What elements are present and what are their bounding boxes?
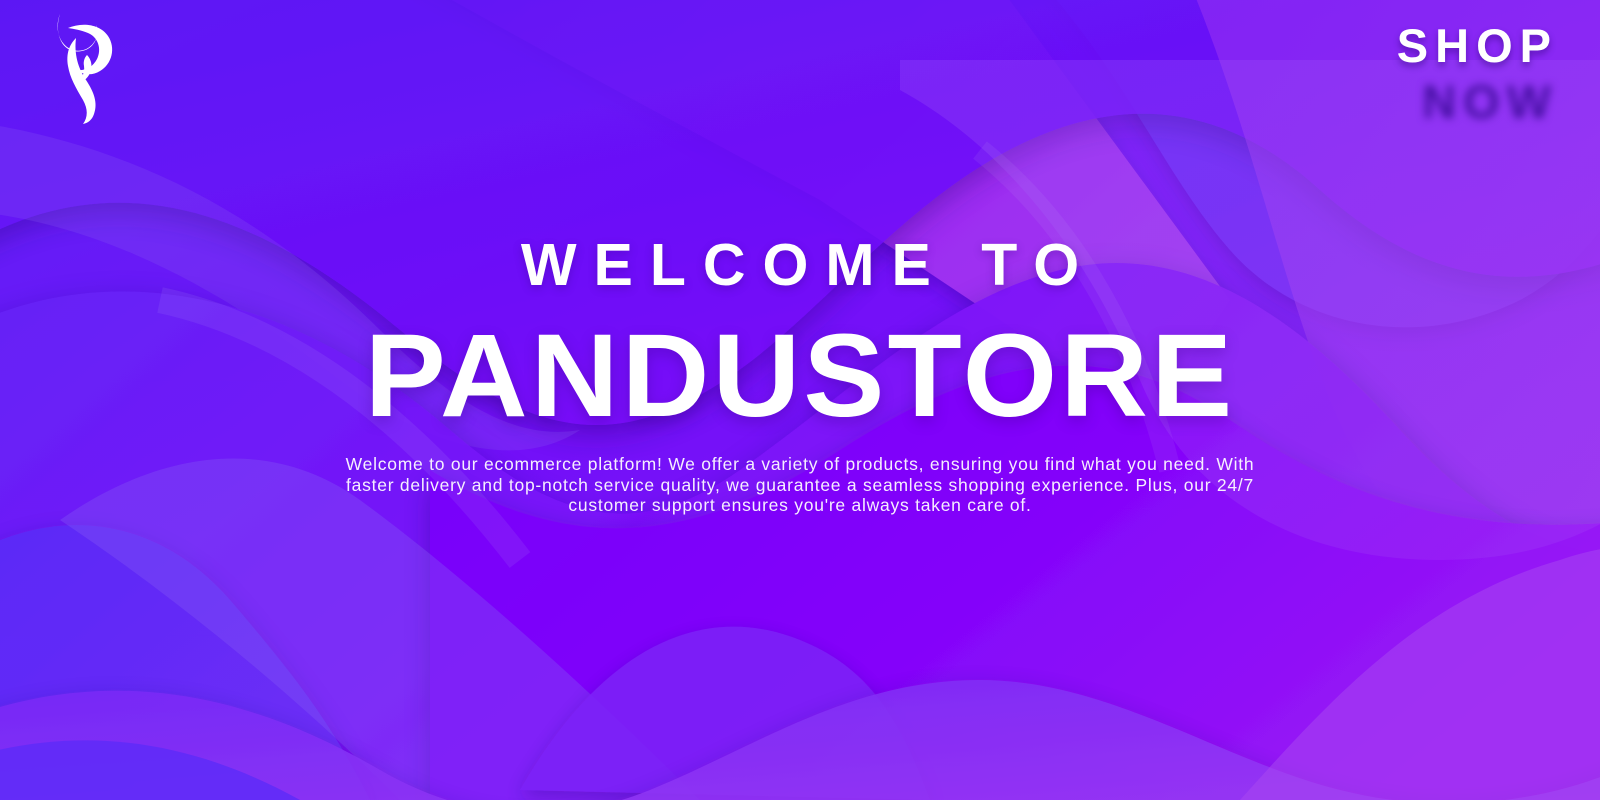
pandustore-p-logo-icon[interactable] <box>30 8 126 124</box>
promo-banner: SHOP NOW WELCOME TO PANDUSTORE Welcome t… <box>0 0 1600 800</box>
hero-title: PANDUSTORE <box>0 317 1600 435</box>
hero-text-block: WELCOME TO PANDUSTORE Welcome to our eco… <box>0 236 1600 516</box>
cta-line-now[interactable]: NOW <box>1397 78 1560 125</box>
cta-line-shop[interactable]: SHOP <box>1397 22 1560 69</box>
shop-now-cta[interactable]: SHOP NOW <box>1397 22 1560 125</box>
hero-eyebrow: WELCOME TO <box>0 236 1600 295</box>
hero-description: Welcome to our ecommerce platform! We of… <box>345 454 1255 516</box>
